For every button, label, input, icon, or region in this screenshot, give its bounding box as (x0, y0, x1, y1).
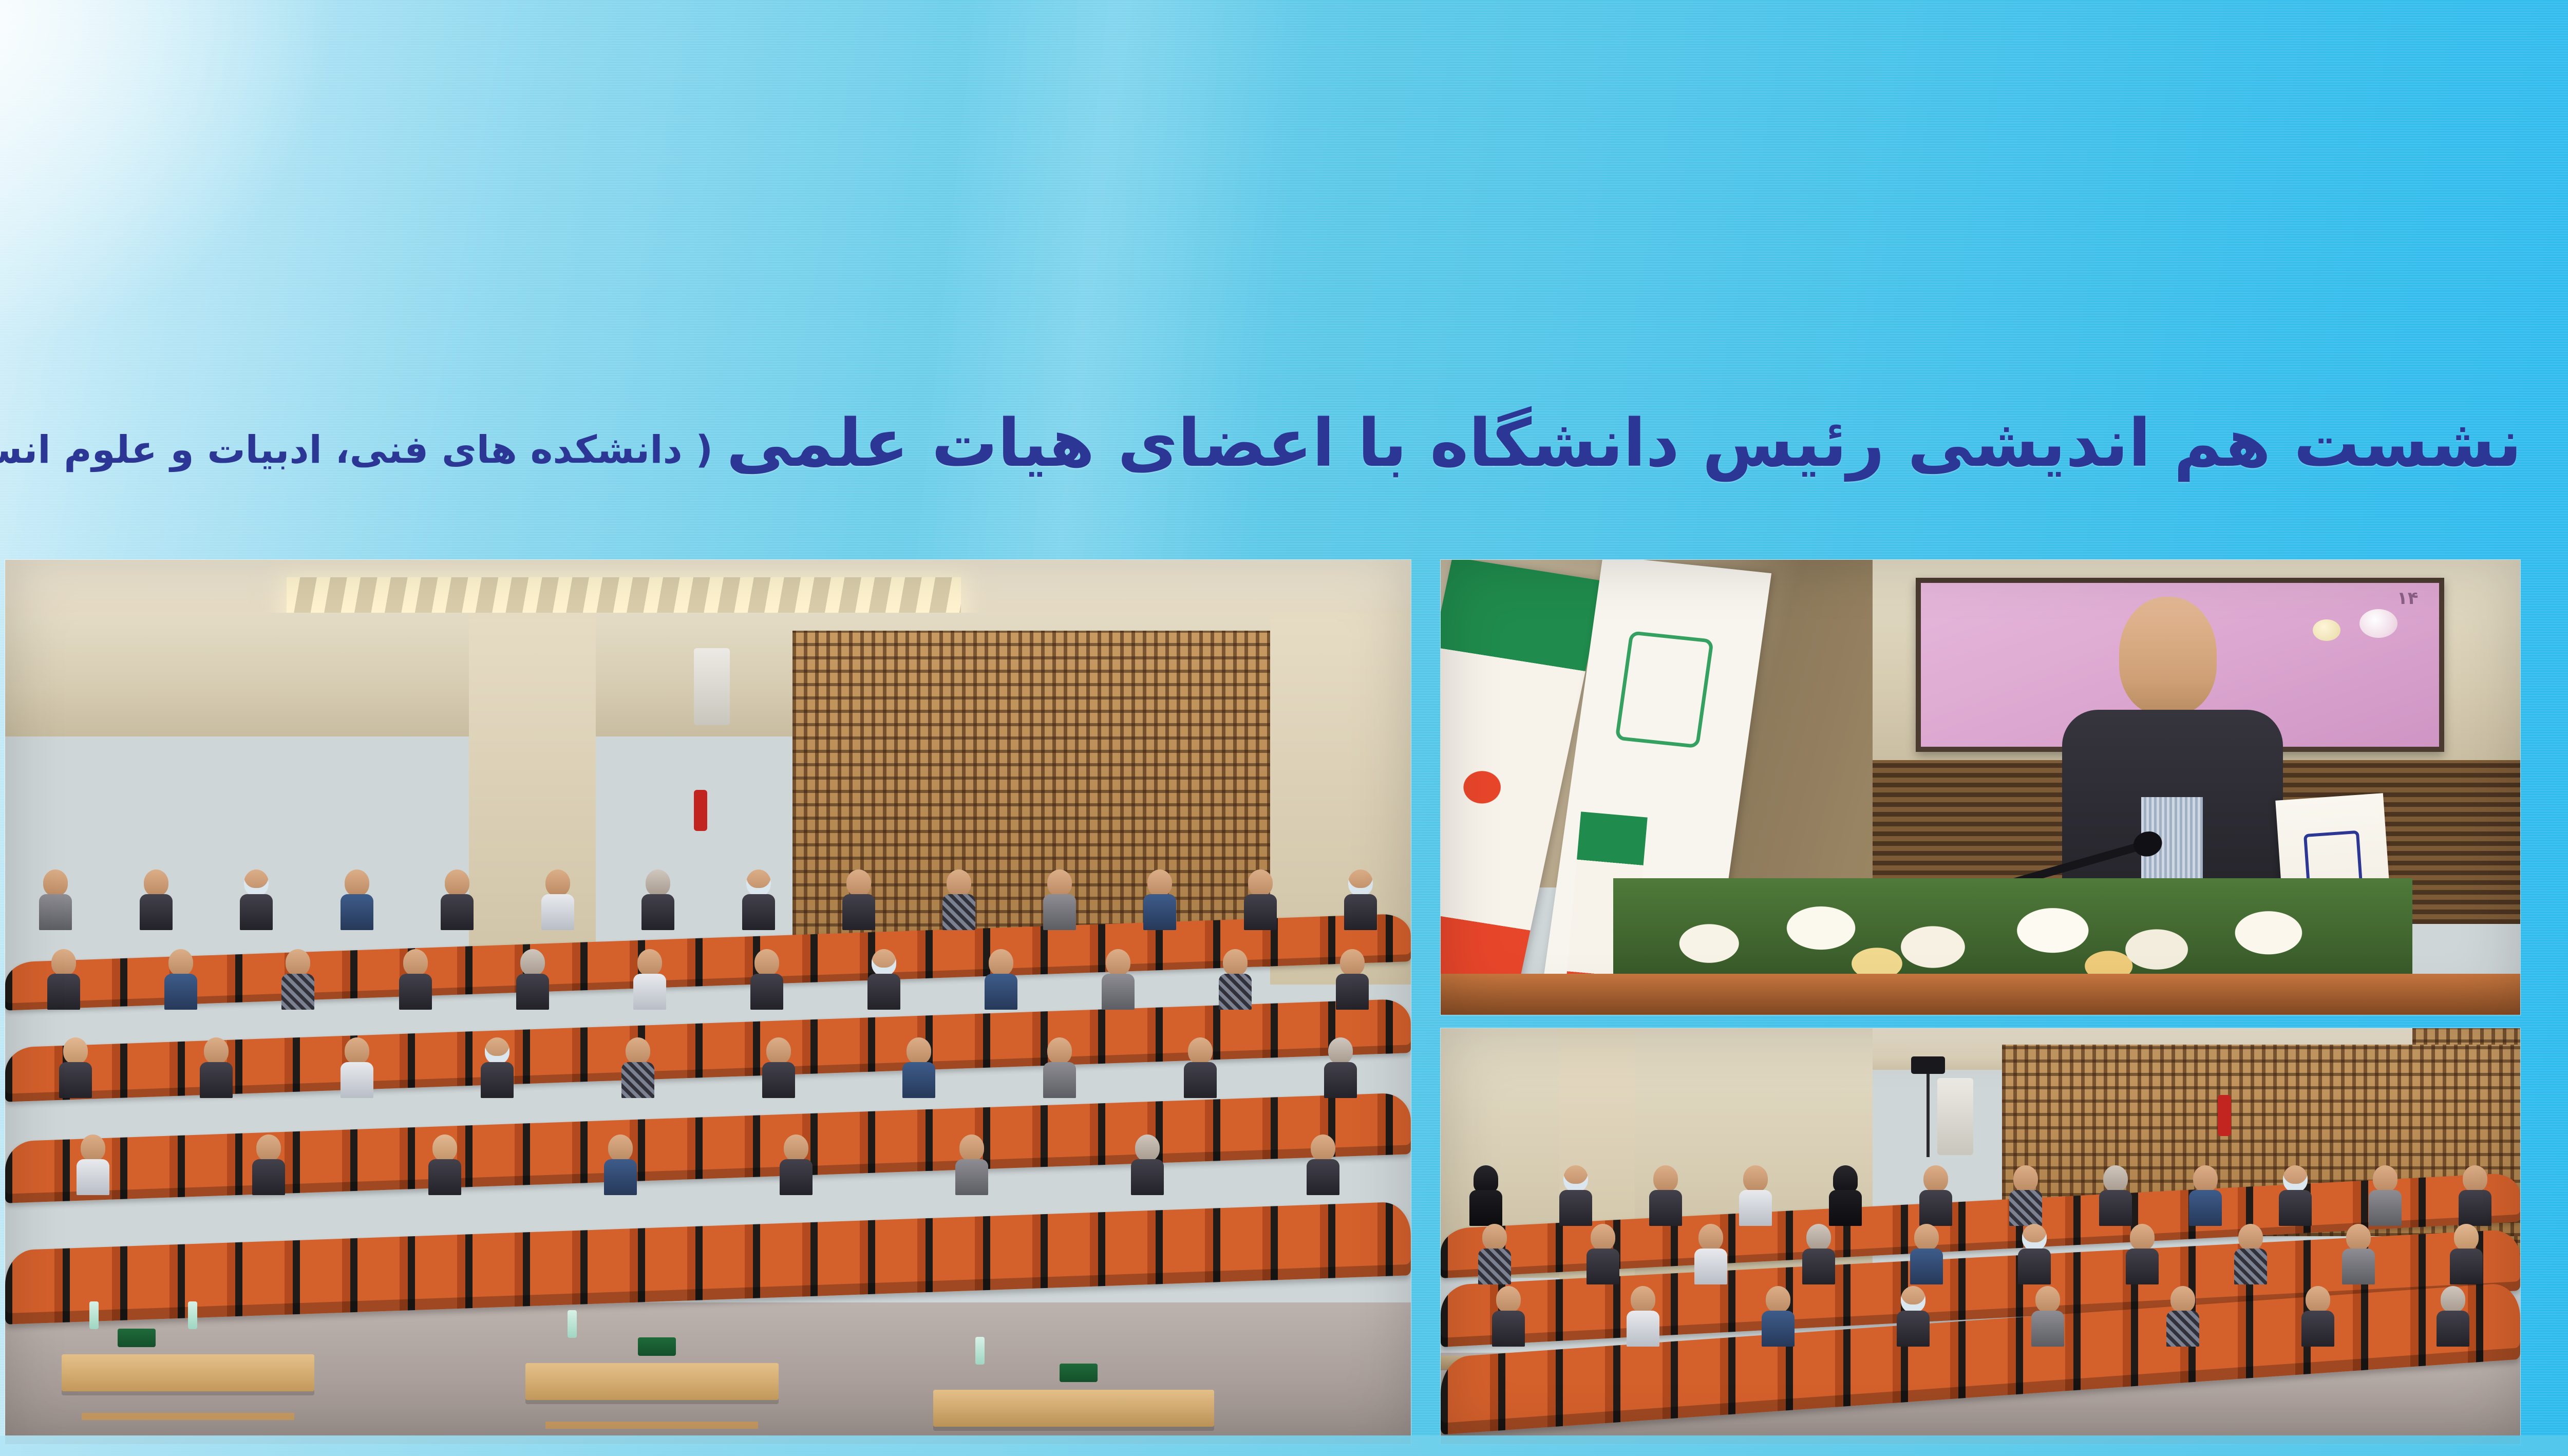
photo-speaker-podium: ۱۴ (1441, 560, 2520, 1015)
page-title: نشست هم اندیشی رئیس دانشگاه با اعضای هیا… (726, 411, 2522, 477)
photo-audience-main (5, 560, 1411, 1444)
photo-audience-left (1441, 1028, 2520, 1444)
photo-column-left: ۱۴ (1441, 560, 2520, 1444)
photo-column-center (5, 560, 1411, 1444)
photo-grid: ۱۴ (0, 560, 2520, 1444)
event-banner: دانشگاه گیلان روابط عمومی دانشگاه گیلان … (0, 0, 2568, 1456)
banner-title-row: نشست هم اندیشی رئیس دانشگاه با اعضای هیا… (0, 411, 2522, 477)
bottom-accent-strip (0, 1435, 2568, 1456)
page-subtitle: ( دانشکده های فنی، ادبیات و علوم انسانی،… (0, 431, 713, 469)
